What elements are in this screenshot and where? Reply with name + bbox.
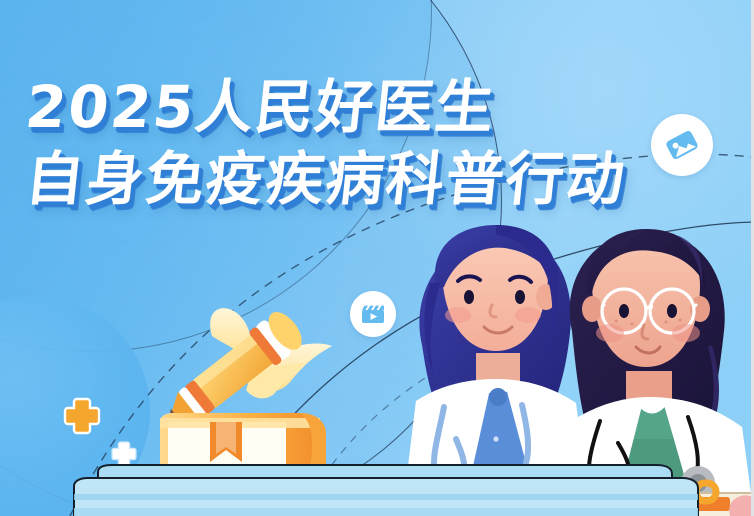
plus-orange-icon: [62, 396, 102, 436]
poster-banner: 2025人民好医生 自身免疫疾病科普行动 图片 视频: [0, 0, 754, 516]
video-clapperboard-icon: [358, 299, 388, 329]
desk-panel: [0, 464, 754, 516]
title-line-1: 2025人民好医生: [23, 78, 729, 136]
image-icon: [662, 125, 702, 165]
image-badge[interactable]: 图片: [651, 114, 713, 176]
poster-title: 2025人民好医生 自身免疫疾病科普行动: [26, 78, 726, 208]
title-line-2: 自身免疫疾病科普行动: [23, 150, 729, 208]
